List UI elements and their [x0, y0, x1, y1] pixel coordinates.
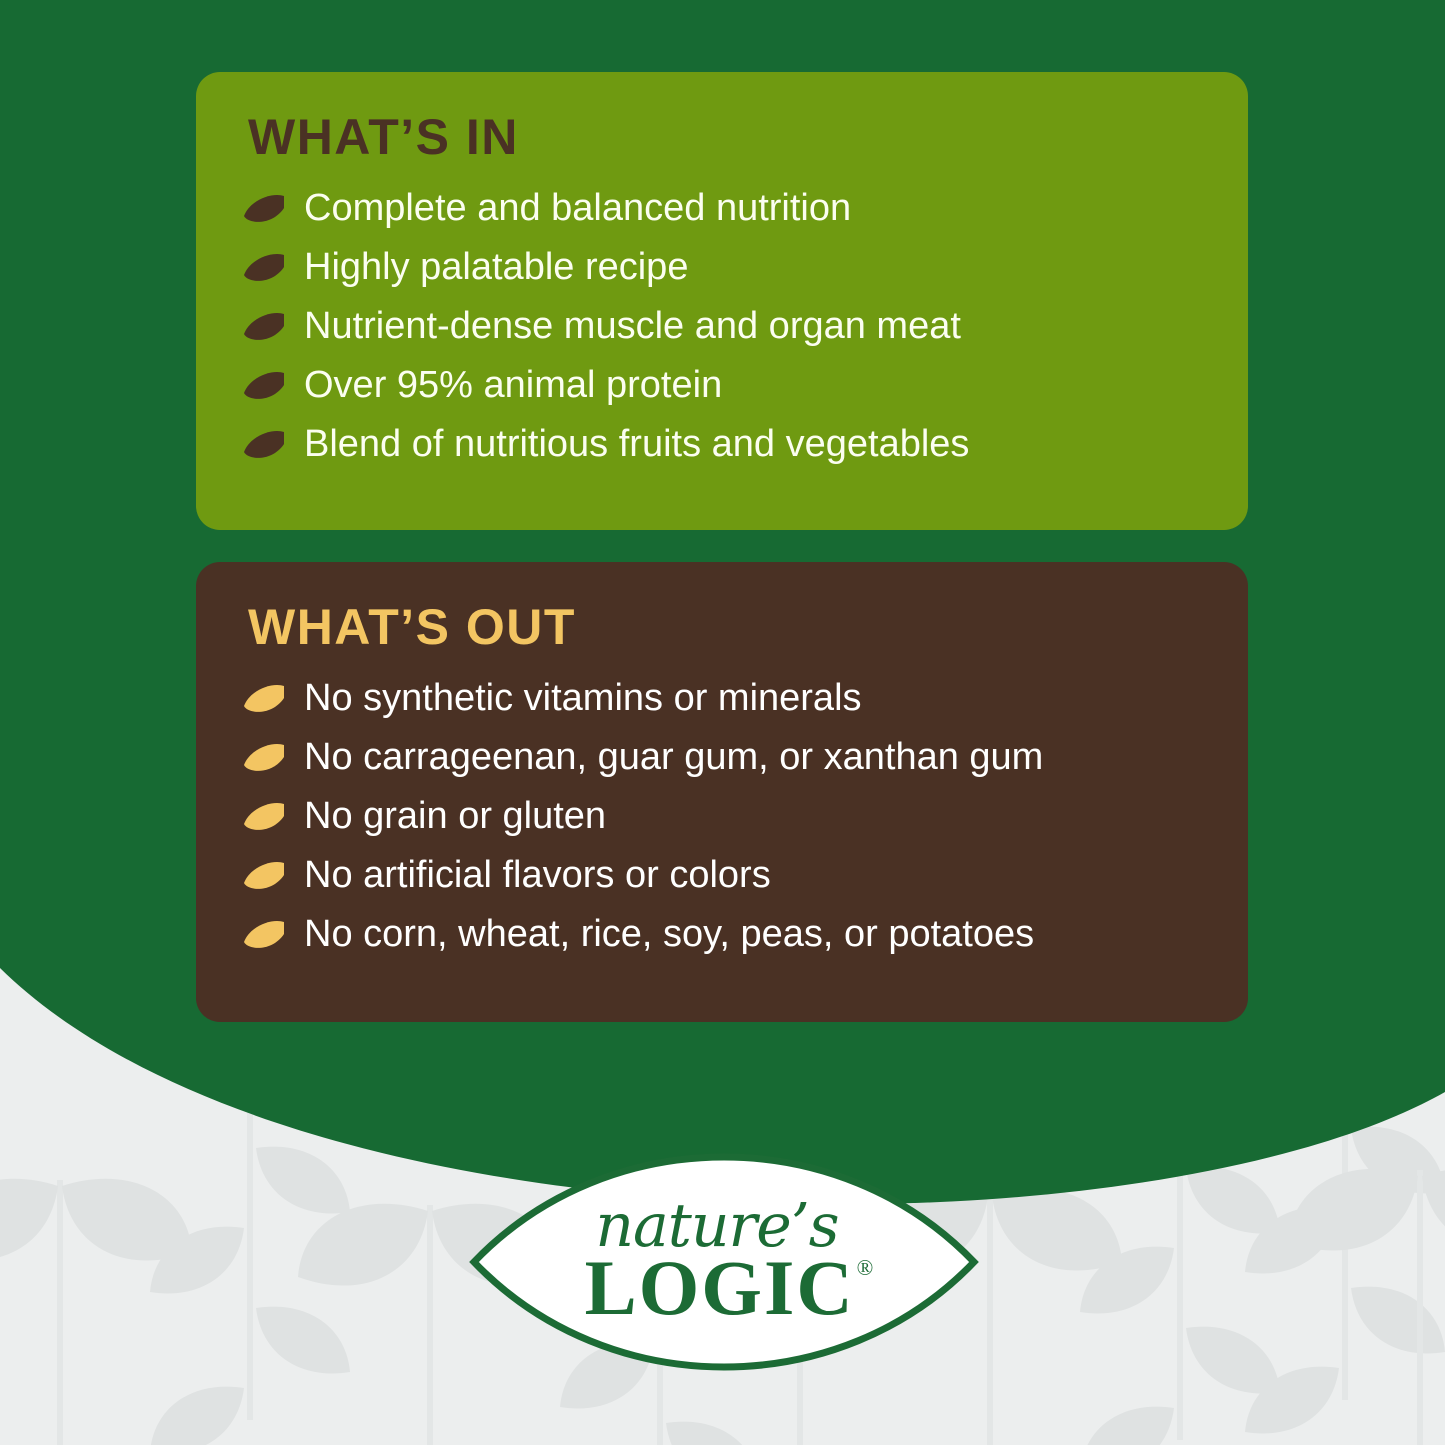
list-item-label: No artificial flavors or colors	[304, 855, 771, 896]
poster-canvas: WHAT’S IN Complete and balanced nutritio…	[0, 0, 1445, 1445]
brand-logo: nature’s LOGIC ®	[468, 1128, 980, 1396]
list-item: Blend of nutritious fruits and vegetable…	[242, 424, 1202, 465]
leaf-icon	[242, 920, 286, 950]
leaf-icon	[242, 194, 286, 224]
leaf-lens-icon	[468, 1128, 980, 1396]
list-item: No grain or gluten	[242, 796, 1202, 837]
list-item-label: Over 95% animal protein	[304, 365, 722, 406]
list-item-label: No carrageenan, guar gum, or xanthan gum	[304, 737, 1043, 778]
list-item-label: Blend of nutritious fruits and vegetable…	[304, 424, 969, 465]
list-item: No corn, wheat, rice, soy, peas, or pota…	[242, 914, 1202, 955]
leaf-icon	[242, 743, 286, 773]
list-item-label: No corn, wheat, rice, soy, peas, or pota…	[304, 914, 1034, 955]
list-item-label: Complete and balanced nutrition	[304, 188, 851, 229]
leaf-icon	[242, 430, 286, 460]
list-item-label: No synthetic vitamins or minerals	[304, 678, 862, 719]
leaf-icon	[242, 802, 286, 832]
whats-in-title: WHAT’S IN	[248, 112, 1202, 162]
leaf-icon	[242, 684, 286, 714]
leaf-icon	[242, 861, 286, 891]
leaf-icon	[242, 312, 286, 342]
list-item-label: Nutrient-dense muscle and organ meat	[304, 306, 961, 347]
list-item: No artificial flavors or colors	[242, 855, 1202, 896]
list-item: Over 95% animal protein	[242, 365, 1202, 406]
list-item: No synthetic vitamins or minerals	[242, 678, 1202, 719]
whats-in-card: WHAT’S IN Complete and balanced nutritio…	[196, 72, 1248, 530]
whats-out-list: No synthetic vitamins or minerals No car…	[242, 678, 1202, 955]
whats-out-title: WHAT’S OUT	[248, 602, 1202, 652]
list-item: No carrageenan, guar gum, or xanthan gum	[242, 737, 1202, 778]
list-item: Highly palatable recipe	[242, 247, 1202, 288]
whats-in-list: Complete and balanced nutrition Highly p…	[242, 188, 1202, 465]
list-item-label: Highly palatable recipe	[304, 247, 688, 288]
whats-out-card: WHAT’S OUT No synthetic vitamins or mine…	[196, 562, 1248, 1022]
leaf-icon	[242, 253, 286, 283]
list-item: Complete and balanced nutrition	[242, 188, 1202, 229]
list-item-label: No grain or gluten	[304, 796, 606, 837]
leaf-icon	[242, 371, 286, 401]
list-item: Nutrient-dense muscle and organ meat	[242, 306, 1202, 347]
